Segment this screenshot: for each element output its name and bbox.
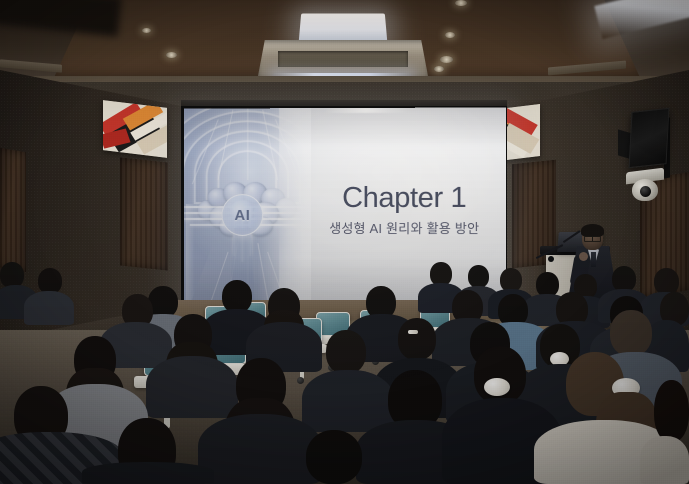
downlight-icon	[455, 0, 467, 6]
presenter-hand	[579, 252, 588, 261]
door-grain	[120, 157, 168, 270]
presenter-tie	[591, 252, 596, 267]
lecture-hall-photo: AI Chapter 1 생성형 AI 원리와 활용 방안	[0, 0, 689, 484]
downlight-icon	[142, 28, 151, 33]
downlight-icon	[445, 32, 455, 38]
ceiling-light-panel	[299, 13, 387, 41]
door-left[interactable]	[120, 157, 168, 270]
downlight-icon	[434, 66, 444, 72]
camera-lens-icon	[640, 186, 651, 197]
ceiling-ac-vent-slot	[278, 51, 408, 67]
microphone-icon	[548, 256, 554, 262]
ceiling-soffit	[0, 59, 62, 72]
ceiling-ac-unit	[258, 40, 428, 76]
door-grain	[0, 148, 26, 273]
glasses-icon	[584, 235, 601, 239]
downlight-icon	[440, 56, 453, 63]
corner-light-fixture	[594, 0, 689, 39]
wall-speaker	[629, 108, 670, 168]
ceiling-shadow	[0, 0, 122, 37]
door-far-left[interactable]	[0, 148, 26, 273]
downlight-icon	[166, 52, 177, 58]
wall-poster-left	[103, 100, 167, 158]
